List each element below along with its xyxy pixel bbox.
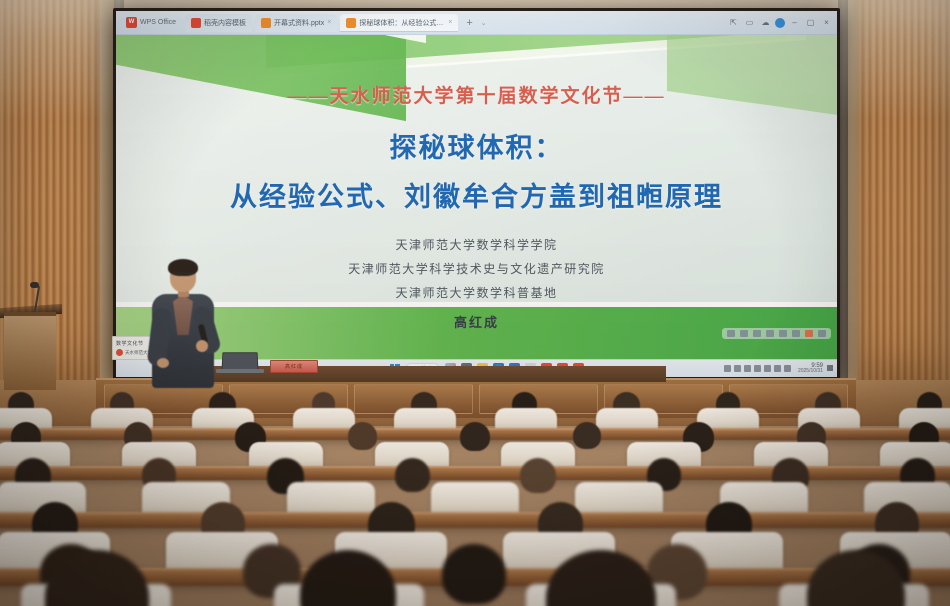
- glasses-icon: [172, 273, 194, 278]
- audience-head: [300, 550, 396, 606]
- slide-grid-icon[interactable]: [740, 330, 748, 337]
- audience-head: [45, 550, 149, 606]
- slide-content: ——天水师范大学第十届数学文化节—— 探秘球体积： 从经验公式、刘徽牟合方盖到祖…: [116, 35, 837, 359]
- wps-office-logo[interactable]: W WPS Office: [120, 14, 182, 31]
- network-icon[interactable]: [744, 365, 751, 372]
- nameplate-text: 高红成: [271, 361, 317, 374]
- tray-icon-group[interactable]: [724, 365, 791, 372]
- end-show-icon[interactable]: [805, 330, 813, 337]
- prev-slide-icon[interactable]: [727, 330, 735, 337]
- audience-head: [807, 550, 905, 606]
- slide-title-line1: 探秘球体积：: [390, 126, 564, 165]
- wifi-icon[interactable]: [774, 365, 781, 372]
- slideshow-control-bar[interactable]: [722, 328, 831, 339]
- wps-logo-mark: W: [126, 17, 137, 28]
- standee-logo-icon: [116, 349, 123, 356]
- taskbar-clock[interactable]: 9:59 2025/10/31: [795, 363, 823, 375]
- tab-label: 稻壳内容模板: [204, 18, 246, 28]
- tab-close-icon[interactable]: ×: [448, 19, 452, 26]
- sound-icon[interactable]: [754, 365, 761, 372]
- account-avatar[interactable]: [775, 18, 785, 28]
- action-center-icon[interactable]: [827, 365, 833, 371]
- new-tab-button[interactable]: +: [461, 17, 477, 29]
- wps-tray-icon[interactable]: [734, 365, 741, 372]
- wps-title-bar: W WPS Office 稻壳内容模板 开幕式资料.pptx × 探秘球体积：从…: [116, 11, 837, 35]
- ime-icon[interactable]: [764, 365, 771, 372]
- layout-icon[interactable]: ▭: [743, 16, 756, 29]
- close-button[interactable]: ×: [820, 16, 833, 29]
- show-hidden-icon[interactable]: [724, 365, 731, 372]
- stage-table: [196, 366, 666, 382]
- wps-brand-label: WPS Office: [140, 19, 176, 26]
- affiliation-item: 天津师范大学数学科普基地: [395, 284, 557, 301]
- tab-close-icon[interactable]: ×: [327, 19, 331, 26]
- speaker-figure: [152, 262, 214, 388]
- restore-button[interactable]: ▢: [804, 16, 817, 29]
- slide-affiliations: 天津师范大学数学科学学院 天津师范大学科学技术史与文化遗产研究院 天津师范大学数…: [348, 236, 605, 301]
- system-tray: 9:59 2025/10/31: [724, 363, 837, 375]
- cloud-icon[interactable]: ☁: [759, 16, 772, 29]
- speaker-nameplate: 高红成: [270, 360, 318, 373]
- screen-icon[interactable]: [766, 330, 774, 337]
- audience-heads: [0, 550, 950, 606]
- minimize-button[interactable]: –: [788, 16, 801, 29]
- laptop-base: [216, 369, 264, 373]
- slide-kicker: ——天水师范大学第十届数学文化节——: [287, 81, 665, 108]
- affiliation-item: 天津师范大学数学科学学院: [395, 236, 557, 253]
- slide-title-line2: 从经验公式、刘徽牟合方盖到祖暅原理: [230, 175, 723, 214]
- audience-head: [546, 550, 656, 606]
- slide-speaker-name: 高红成: [454, 312, 499, 331]
- wps-ppt-icon: [346, 18, 356, 28]
- clock-date: 2025/10/31: [798, 369, 823, 374]
- lecture-hall-scene: W WPS Office 稻壳内容模板 开幕式资料.pptx × 探秘球体积：从…: [0, 0, 950, 606]
- projected-desktop: W WPS Office 稻壳内容模板 开幕式资料.pptx × 探秘球体积：从…: [116, 11, 837, 377]
- wps-ppt-icon: [261, 18, 271, 28]
- annotate-icon[interactable]: [779, 330, 787, 337]
- tab-sphere-volume-pptx[interactable]: 探秘球体积：从经验公式、刘徽… ×: [340, 14, 458, 32]
- tab-label: 开幕式资料.pptx: [274, 18, 324, 28]
- chevron-down-icon[interactable]: ⌄: [481, 19, 487, 27]
- wps-doc-icon: [191, 18, 201, 28]
- presenter-laptop: [222, 352, 259, 370]
- affiliation-item: 天津师范大学科学技术史与文化遗产研究院: [348, 260, 605, 277]
- note-icon[interactable]: [792, 330, 800, 337]
- standee-line1: 数学文化节: [116, 340, 144, 347]
- audience-area: [0, 392, 950, 606]
- battery-icon[interactable]: [784, 365, 791, 372]
- tab-template-gallery[interactable]: 稻壳内容模板: [185, 14, 252, 32]
- tab-opening-ceremony-pptx[interactable]: 开幕式资料.pptx ×: [255, 14, 337, 32]
- share-icon[interactable]: ⇱: [727, 16, 740, 29]
- lectern: [4, 312, 56, 390]
- pointer-icon[interactable]: [753, 330, 761, 337]
- speaker-hand-left: [157, 358, 169, 368]
- speaker-hand-right: [196, 340, 208, 352]
- projection-screen: W WPS Office 稻壳内容模板 开幕式资料.pptx × 探秘球体积：从…: [113, 8, 840, 380]
- microphone-head: [30, 282, 39, 288]
- presentation-slide[interactable]: ——天水师范大学第十届数学文化节—— 探秘球体积： 从经验公式、刘徽牟合方盖到祖…: [116, 35, 837, 359]
- standee-line2-row: 天水师范大学: [116, 349, 152, 356]
- tab-label: 探秘球体积：从经验公式、刘徽…: [359, 18, 445, 28]
- more-icon[interactable]: [818, 330, 826, 337]
